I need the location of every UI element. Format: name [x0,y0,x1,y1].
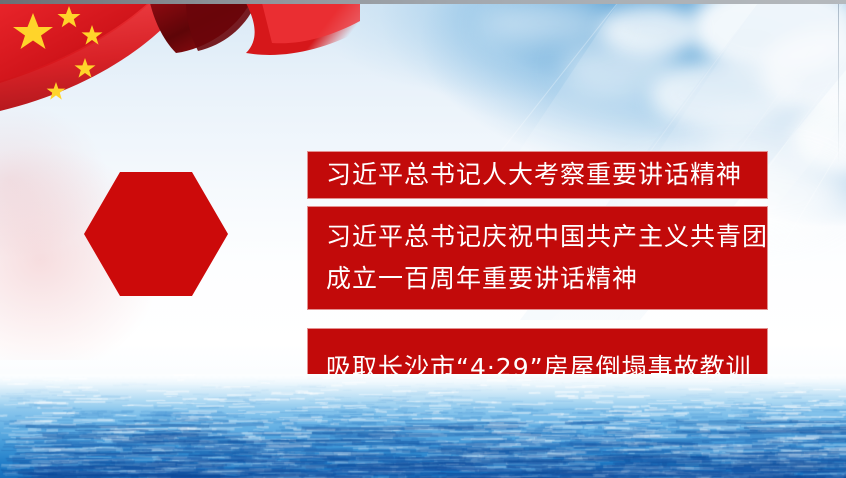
banner-1-line-1: 习近平总书记人大考察重要讲话精神 [326,162,767,188]
china-flag-ribbon [0,3,360,133]
banner-2-line-1: 习近平总书记庆祝中国共产主义共青团 [326,224,767,250]
banner-2-line-2: 成立一百周年重要讲话精神 [326,266,767,292]
window-top-bar [0,0,846,4]
cloud-puff [560,40,680,95]
title-banner-2[interactable]: 习近平总书记庆祝中国共产主义共青团 成立一百周年重要讲话精神 [307,206,768,310]
cloud-puff [480,0,620,46]
slide-canvas: 习近平总书记人大考察重要讲话精神 习近平总书记庆祝中国共产主义共青团 成立一百周… [0,0,846,478]
title-banner-3[interactable]: 吸取长沙市“4·29”房屋倒塌事故教训 [307,328,768,380]
water-surface [0,374,846,478]
title-banner-1[interactable]: 习近平总书记人大考察重要讲话精神 [307,151,768,199]
right-edge-guide [838,4,839,164]
